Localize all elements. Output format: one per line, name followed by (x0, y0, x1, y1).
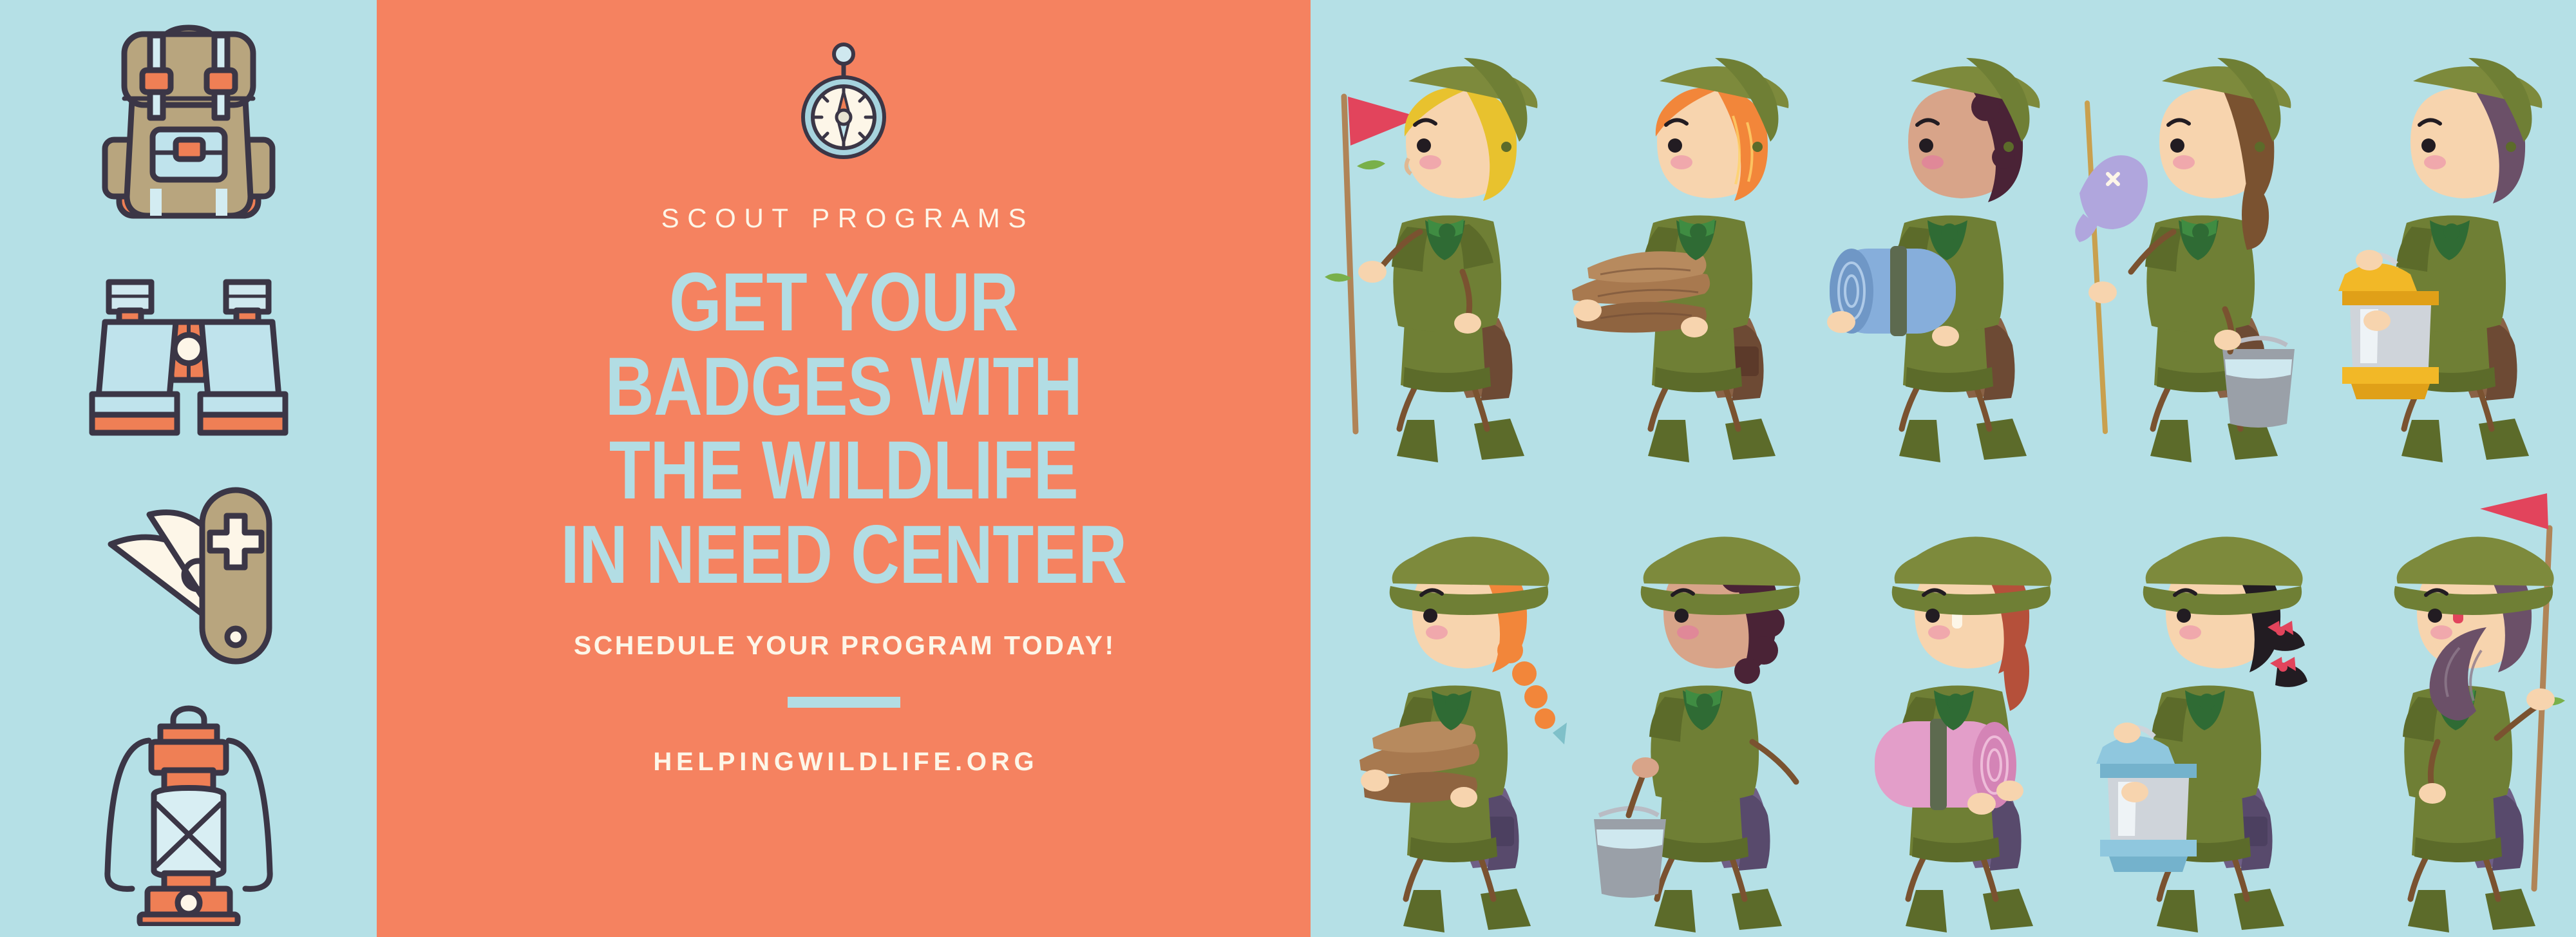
compass-icon (795, 40, 892, 166)
headline-line-4: IN NEED CENTER (560, 513, 1126, 598)
scout-illustration-panel (1311, 0, 2576, 937)
scout-flag-blonde (1311, 19, 1568, 470)
lantern-icon (0, 689, 377, 937)
headline-line-3: THE WILDLIFE (560, 429, 1126, 513)
cta-text: SCHEDULE YOUR PROGRAM TODAY! (571, 630, 1115, 661)
scout-firewood-ginger (1562, 19, 1819, 470)
scout-bedroll-pink (1819, 489, 2077, 937)
scout-flag-violet (2322, 489, 2576, 937)
scout-programs-banner: SCOUT PROGRAMS GET YOUR BADGES WITH THE … (0, 0, 2576, 937)
scout-curly-bucket (1568, 489, 1826, 937)
headline-line-1: GET YOUR (560, 261, 1126, 345)
scout-row-bottom (1311, 489, 2576, 937)
gear-icon-panel (0, 0, 377, 937)
scout-fishing-bucket (2064, 19, 2322, 470)
message-panel: SCOUT PROGRAMS GET YOUR BADGES WITH THE … (377, 0, 1311, 937)
headline-line-2: BADGES WITH (560, 345, 1126, 430)
eyebrow-text: SCOUT PROGRAMS (653, 203, 1034, 234)
binoculars-icon (0, 251, 377, 464)
scout-braid-ginger (1317, 489, 1575, 937)
scout-pigtails-lantern (2070, 489, 2328, 937)
pocket-knife-icon (0, 464, 377, 689)
scout-bedroll-brunette (1813, 19, 2070, 470)
scout-row-top (1311, 19, 2576, 470)
divider-rule (788, 697, 900, 708)
backpack-icon (0, 0, 377, 251)
website-url[interactable]: HELPINGWILDLIFE.ORG (649, 748, 1039, 777)
page-title: GET YOUR BADGES WITH THE WILDLIFE IN NEE… (560, 261, 1126, 597)
scout-lantern-yellow (2315, 19, 2573, 470)
